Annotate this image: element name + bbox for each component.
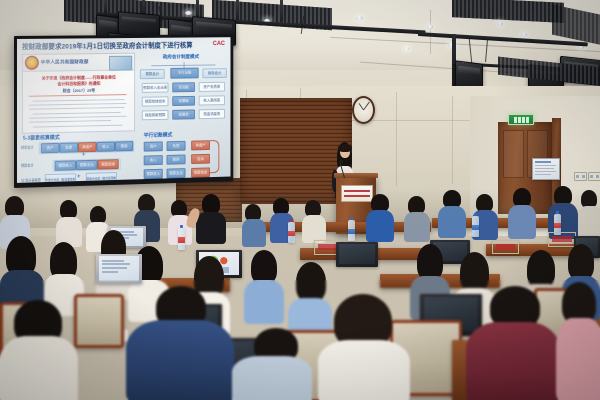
notice-line-1 (535, 165, 556, 166)
document-body-line-3 (29, 107, 125, 110)
diagram-row3-right: 现金流量表 (199, 109, 225, 119)
bottle-label (178, 237, 185, 243)
attendee-torso (438, 206, 466, 238)
pr-r2-c2: 预算结余 (191, 167, 210, 177)
notice-line-3 (535, 171, 556, 172)
attendee-m6 (244, 250, 284, 320)
flow-row1-label: 财务会计 (21, 145, 34, 150)
document-thumbnail-image (109, 56, 132, 71)
attendee-b6-presenter-assistant (196, 194, 226, 244)
document-body-line-2 (29, 103, 127, 106)
downlight-3 (356, 16, 363, 20)
document-body-line-1 (33, 99, 125, 102)
microphone-head (340, 160, 343, 163)
attendee-torso (0, 336, 78, 400)
diagram-row3-mid: 双报告 (172, 109, 195, 119)
attendee-torso (466, 322, 560, 400)
diagram-left-node: 预算会计 (140, 69, 165, 79)
laptop-lid (96, 254, 142, 284)
attendee-foreground-navy (126, 286, 234, 400)
bottle-cap (474, 213, 478, 216)
document-banner-text: 中华人民共和国财政部 (41, 59, 89, 66)
pr-r2-c1: 预算支出 (167, 168, 186, 178)
truss-drop-5 (280, 0, 283, 22)
attendee-b9 (302, 200, 326, 242)
podium-top-surface (334, 173, 378, 178)
flow-row2-node-2: 预算结余 (97, 159, 118, 169)
notice-line-4 (535, 174, 551, 175)
attendee-torso (508, 205, 536, 239)
attendee-b15 (548, 186, 578, 238)
bottle-cap (290, 219, 294, 222)
truss-drop-3 (196, 0, 199, 18)
wall-panel-seam-4 (452, 96, 453, 184)
flow-row1-node-1: 负债 (59, 142, 78, 152)
attendee-torso (404, 212, 430, 242)
water-bottle-b1[interactable] (178, 228, 185, 250)
attendee-torso (366, 210, 394, 242)
laptop-lid (336, 242, 378, 267)
diagram-connector-v (184, 62, 185, 68)
flow-row1-node-3: 收入 (97, 142, 115, 152)
bottle-label (288, 231, 295, 236)
wall-clock (352, 96, 375, 124)
name-tent-card-3 (492, 240, 519, 254)
attendee-b10 (366, 194, 394, 242)
bottom-right-section-title: 平行记账模式 (144, 131, 173, 139)
laptop-screen (99, 256, 139, 281)
attendee-b7 (242, 204, 266, 246)
document-rule (29, 94, 127, 97)
attendee-torso (242, 219, 266, 247)
exit-sign-glyphs (514, 117, 529, 123)
attendee-foreground-blue-right (232, 328, 312, 400)
exit-sign (508, 114, 534, 125)
attendee-torso (126, 320, 234, 400)
flow-row2-label: 预算会计 (21, 162, 34, 167)
light-switch-plate-2[interactable] (588, 172, 600, 181)
document-banner: 中华人民共和国财政部 (23, 54, 134, 72)
tent-card-text (552, 236, 572, 242)
pr-r1-c0: 收入 (144, 155, 163, 165)
slide-corner-mark: CAC (213, 41, 225, 47)
attendee-hair (5, 196, 24, 217)
bottle-label (472, 225, 479, 230)
downlight-7 (521, 33, 527, 36)
diagram-row1-right: 资产负债表 (199, 82, 225, 92)
projection-screen: 按财政部要求2019年1月1日切换至政府会计制度下进行核算 CAC 中华人民共和… (14, 34, 233, 188)
laptop-front-1[interactable] (96, 254, 142, 286)
right-diagram-title: 政府会计制度模式 (163, 53, 199, 60)
attendee-b14 (508, 188, 536, 238)
diagram-right-node: 财务会计 (202, 68, 226, 78)
attendee-torso (196, 212, 226, 244)
parallel-entry-arrow (210, 140, 219, 173)
flow-footnote-node-0: 财务会计分录（权责发生制） (45, 173, 76, 183)
flow-row1-node-2: 净资产 (78, 142, 96, 152)
attendee-b16 (578, 190, 600, 238)
presenter-hair-front (338, 144, 352, 152)
notice-line-2 (535, 168, 554, 169)
attendee-torso (244, 280, 284, 324)
attendee-foreground-pink-right (556, 282, 600, 400)
attendee-hair (417, 244, 443, 280)
light-switch-plate-1[interactable] (574, 172, 587, 181)
water-bottle-b3[interactable] (348, 220, 355, 241)
flow-footnote-plus: + (77, 174, 80, 180)
attendee-m1 (0, 236, 44, 310)
attendee-torso (232, 356, 312, 400)
flow-row2-node-1: 预算支出 (76, 160, 97, 170)
document-body-line-7 (33, 125, 123, 128)
wall-notice-board (532, 158, 560, 180)
attendee-hair (251, 250, 277, 284)
laptop-mid-3[interactable] (336, 242, 378, 268)
door-panel-left (503, 130, 524, 178)
wall-panel-seam-3 (396, 92, 397, 186)
diagram-row1-left: 预算收入支出表 (142, 83, 169, 93)
attendee-hair (202, 194, 220, 214)
attendee-b11 (404, 196, 430, 242)
attendee-torso (318, 340, 410, 400)
attendee-b2 (56, 200, 82, 246)
downlight-1 (185, 11, 192, 15)
flow-row2-node-0: 预算收入 (55, 160, 77, 171)
flow-footnote-node-1: 预算会计分录（收付实现制） (86, 172, 117, 183)
document-body-line-4 (33, 112, 121, 115)
bottle-cap (180, 225, 184, 228)
chair-backrest (74, 294, 124, 348)
attendee-hair (568, 244, 594, 280)
bottle-label (348, 229, 355, 234)
projection-screen-surface: 按财政部要求2019年1月1日切换至政府会计制度下进行核算 CAC 中华人民共和… (17, 37, 231, 183)
document-heading-2: 会计科目和报表》的通知 (57, 81, 100, 88)
bottom-left-section-title: 5-3要素核算模式 (23, 134, 60, 142)
flow-footnote-label: 注:双分录核算 (21, 177, 41, 183)
downlight-5 (497, 22, 503, 26)
slide-title: 按财政部要求2019年1月1日切换至政府会计制度下进行核算 (22, 41, 227, 52)
tent-card-text (318, 244, 338, 250)
flow-plus-sign: + (82, 152, 85, 158)
water-bottle-b2[interactable] (288, 222, 295, 243)
attendee-torso (302, 215, 326, 243)
attendee-torso (578, 206, 600, 238)
attendee-foreground-maroon (466, 286, 560, 400)
attendee-b12 (438, 190, 466, 238)
attendee-foreground-woman-white (318, 294, 410, 400)
downlight-4 (427, 25, 433, 29)
diagram-row1-mid: 双功能 (172, 82, 195, 92)
diagram-row3-left: 财政拨款预算 (142, 110, 169, 120)
pr-r0-c1: 负债 (167, 141, 186, 151)
slide-right-diagram: 政府会计制度模式 预算会计 平行记账 财务会计 预算收入支出表 双功能 资产负债… (140, 53, 227, 128)
conference-room-photo: 按财政部要求2019年1月1日切换至政府会计制度下进行核算 CAC 中华人民共和… (0, 0, 600, 400)
water-bottle-b4[interactable] (472, 216, 479, 237)
flow-row1-node-4: 费用 (115, 141, 133, 151)
pr-r1-c1: 费用 (167, 154, 186, 164)
pr-r2-c0: 预算收入 (144, 169, 163, 179)
downlight-9 (578, 46, 584, 49)
slide-document-card: 中华人民共和国财政部 关于印发《政府会计制度——行政事业单位 会计科目和报表》的… (22, 53, 135, 134)
bottle-cap (556, 211, 560, 214)
bottle-cap (350, 217, 354, 220)
bottle-label (554, 223, 561, 228)
document-subheading: 财会〔2017〕25号 (63, 88, 96, 94)
attendee-torso (556, 318, 600, 400)
national-emblem-icon (25, 56, 39, 70)
document-body-line-6 (29, 120, 111, 123)
attendee-hair (527, 250, 555, 288)
document-body-line-5 (29, 116, 127, 119)
pr-r0-c2: 净资产 (191, 140, 210, 150)
attendee-foreground-white-left (0, 300, 78, 400)
diagram-row2-mid: 双基础 (172, 96, 195, 106)
tent-card-text (496, 244, 515, 250)
truss-drop-4 (236, 0, 239, 20)
downlight-8 (404, 47, 409, 50)
diagram-center-node: 平行记账 (170, 68, 198, 79)
clock-minute-hand (363, 102, 370, 111)
notice-header-bar (535, 161, 551, 163)
laptop-screen (339, 244, 375, 265)
flow-row1-node-0: 资产 (41, 143, 60, 153)
chair-mid-center[interactable] (74, 294, 118, 344)
diagram-row2-left: 预算结转结余 (142, 96, 169, 106)
pr-r1-c2: 结余 (191, 154, 210, 164)
truss-drop-1 (104, 0, 107, 14)
diagram-row2-right: 收入费用表 (199, 95, 225, 105)
pr-r0-c0: 资产 (144, 141, 163, 151)
